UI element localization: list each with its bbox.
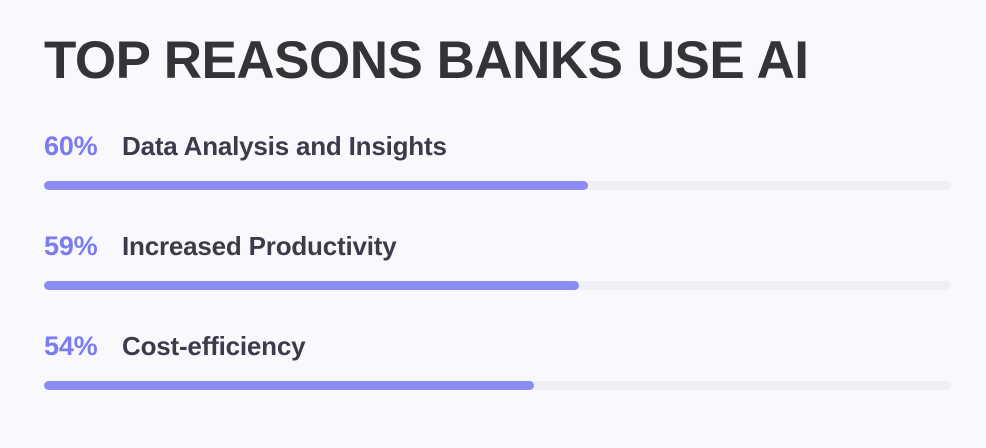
stat-row-header: 59% Increased Productivity [44,223,951,269]
stat-value: 54% [44,323,122,369]
stat-label: Data Analysis and Insights [122,123,447,169]
bar-fill [44,381,534,390]
stat-row: 60% Data Analysis and Insights [44,123,951,223]
stat-row: 54% Cost-efficiency [44,323,951,423]
bar-track [44,181,951,190]
stat-label: Cost-efficiency [122,323,305,369]
bar-track [44,281,951,290]
stat-value: 60% [44,123,122,169]
page-title: TOP REASONS BANKS USE AI [44,34,809,87]
infographic-root: TOP REASONS BANKS USE AI 60% Data Analys… [0,0,986,448]
stat-bar-list: 60% Data Analysis and Insights 59% Incre… [44,123,951,423]
stat-row-header: 54% Cost-efficiency [44,323,951,369]
stat-row: 59% Increased Productivity [44,223,951,323]
bar-track [44,381,951,390]
stat-value: 59% [44,223,122,269]
bar-fill [44,281,579,290]
stat-label: Increased Productivity [122,223,396,269]
bar-fill [44,181,588,190]
stat-row-header: 60% Data Analysis and Insights [44,123,951,169]
